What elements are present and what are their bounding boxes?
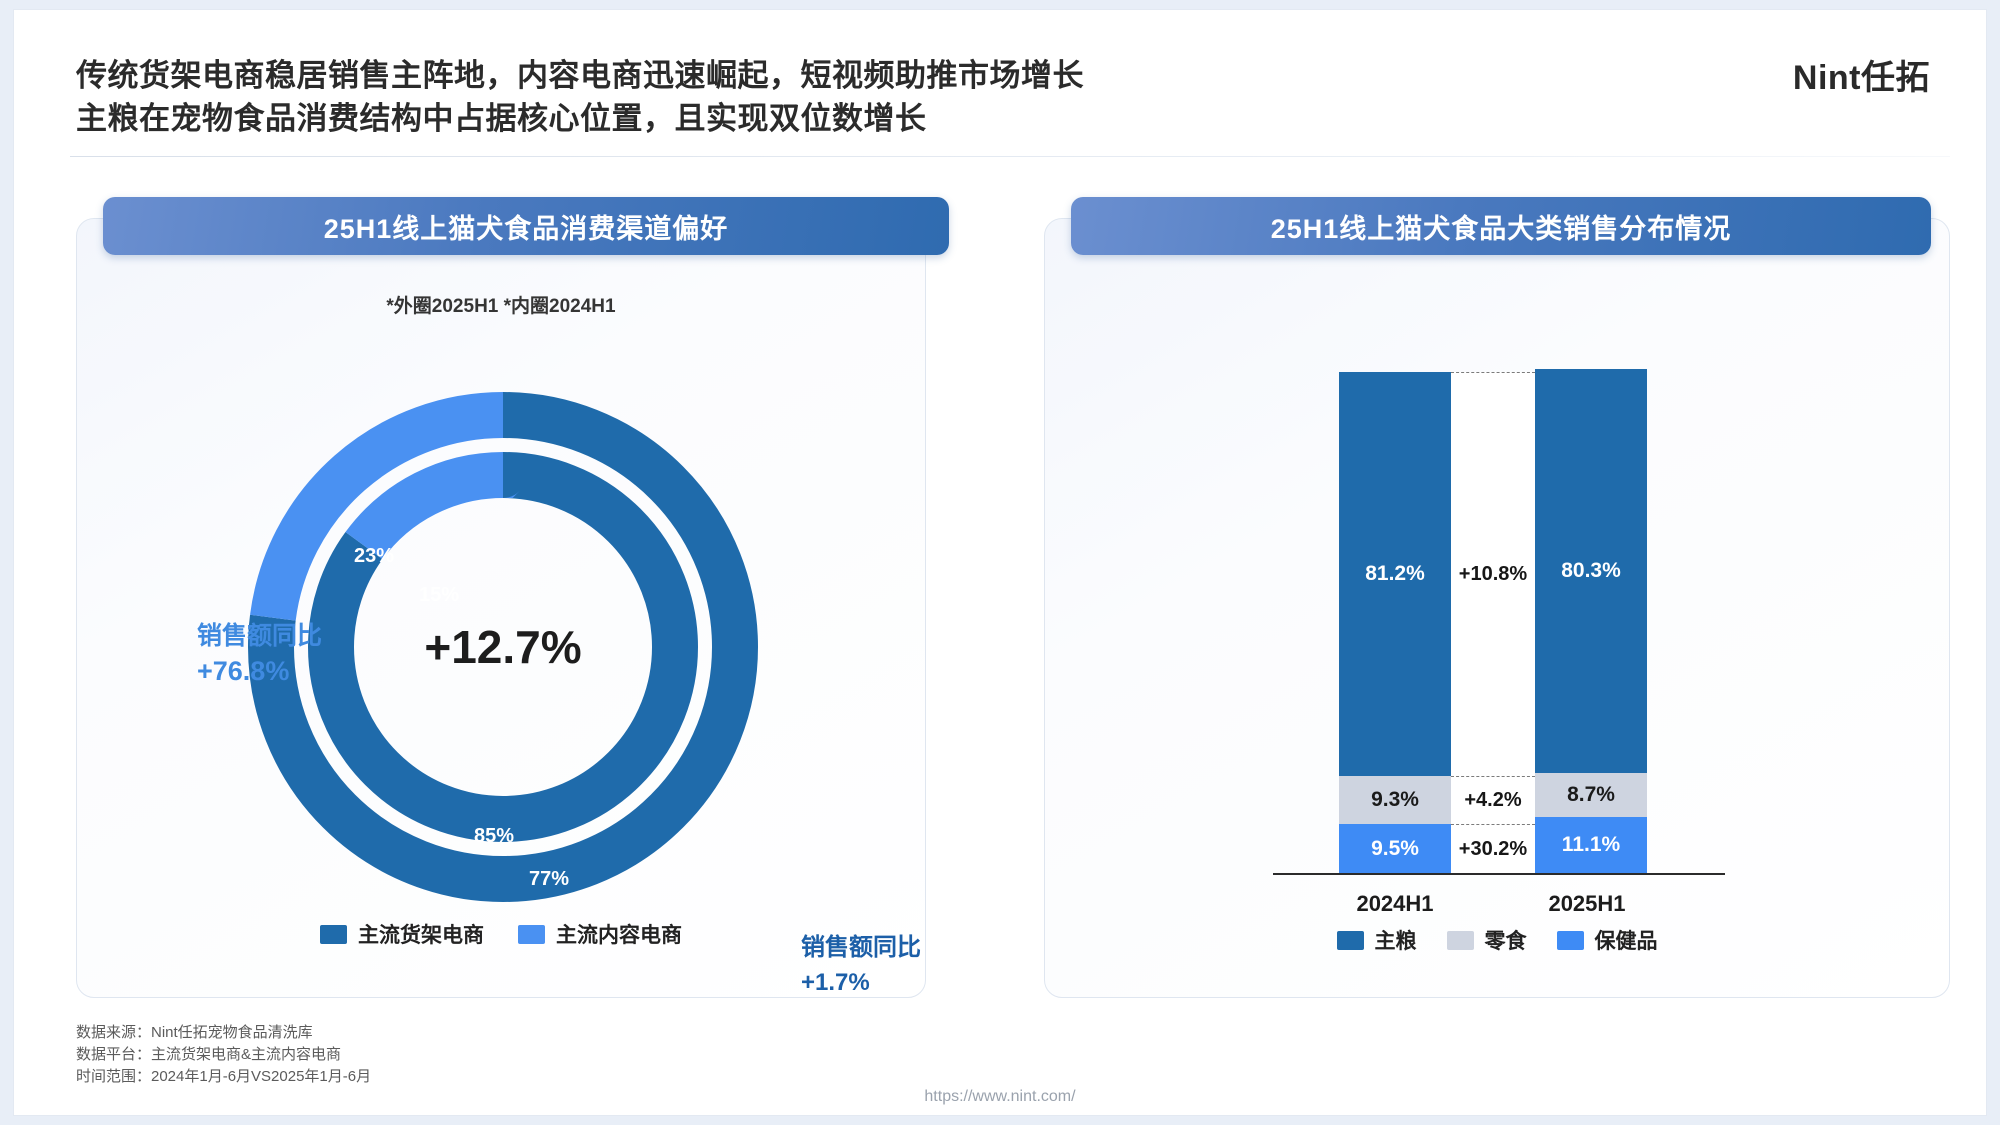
- bar-segment-health-2024: 9.5%: [1339, 824, 1451, 873]
- bar-segment-snack-2024: 9.3%: [1339, 776, 1451, 824]
- legend-item-staple: 主粮: [1337, 925, 1417, 955]
- legend-label-snack: 零食: [1485, 925, 1527, 955]
- bar-label-health-2025: 11.1%: [1562, 833, 1620, 857]
- card-title-banner-right: 25H1线上猫犬食品大类销售分布情况: [1071, 197, 1931, 255]
- card-title-right: 25H1线上猫犬食品大类销售分布情况: [1271, 207, 1732, 246]
- brand-logo: Nint任拓: [1793, 50, 1930, 99]
- legend-label-shelf-ecommerce: 主流货架电商: [358, 919, 484, 949]
- x-axis-line: [1273, 873, 1725, 875]
- legend-item-shelf-ecommerce: 主流货架电商: [320, 919, 484, 949]
- page-title-line2: 主粮在宠物食品消费结构中占据核心位置，且实现双位数增长: [76, 97, 1616, 140]
- footer-platform: 数据平台：主流货架电商&主流内容电商: [76, 1044, 371, 1066]
- bar-label-staple-2024: 81.2%: [1365, 562, 1425, 586]
- footer-notes: 数据来源：Nint任拓宠物食品清洗库 数据平台：主流货架电商&主流内容电商 时间…: [76, 1022, 371, 1088]
- label-outer-content-ecommerce: 23%: [354, 545, 394, 568]
- growth-cell-health: +30.2%: [1451, 824, 1535, 873]
- bar-segment-staple-2024: 81.2%: [1339, 372, 1451, 776]
- growth-label-health: +30.2%: [1459, 838, 1527, 861]
- legend-label-content-ecommerce: 主流内容电商: [556, 919, 682, 949]
- chart-card-category-distribution: 25H1线上猫犬食品大类销售分布情况 81.2% 9.3% 9.5%: [1044, 218, 1950, 998]
- chart-card-channel-preference: 25H1线上猫犬食品消费渠道偏好 *外圈2025H1 *内圈2024H1: [76, 218, 926, 998]
- footer-period: 时间范围：2024年1月-6月VS2025年1月-6月: [76, 1066, 371, 1088]
- legend-swatch-health: [1557, 931, 1584, 950]
- growth-label-staple: +10.8%: [1459, 563, 1527, 586]
- legend-swatch-content-ecommerce: [518, 925, 545, 944]
- card-title-left: 25H1线上猫犬食品消费渠道偏好: [324, 207, 729, 246]
- legend-swatch-snack: [1447, 931, 1474, 950]
- footer-url[interactable]: https://www.nint.com/: [0, 1088, 2000, 1106]
- bar-label-health-2024: 9.5%: [1371, 837, 1419, 861]
- bar-label-snack-2025: 8.7%: [1567, 783, 1615, 807]
- bar-segment-snack-2025: 8.7%: [1535, 773, 1647, 817]
- legend-label-staple: 主粮: [1375, 925, 1417, 955]
- label-inner-shelf-ecommerce: 85%: [474, 825, 514, 848]
- stacked-bar-chart: 81.2% 9.3% 9.5% +10.8% +4.2%: [1045, 315, 1949, 935]
- page-title: 传统货架电商稳居销售主阵地，内容电商迅速崛起，短视频助推市场增长 主粮在宠物食品…: [76, 54, 1616, 140]
- growth-cell-snack: +4.2%: [1451, 776, 1535, 824]
- legend-left: 主流货架电商 主流内容电商: [77, 919, 925, 949]
- bar-label-snack-2024: 9.3%: [1371, 788, 1419, 812]
- x-tick-2025h1: 2025H1: [1507, 891, 1667, 917]
- bar-segment-staple-2025: 80.3%: [1535, 369, 1647, 773]
- annotation-light-value: +76.8%: [197, 653, 322, 689]
- legend-right: 主粮 零食 保健品: [1045, 925, 1949, 955]
- header-divider: [70, 156, 1950, 157]
- legend-item-snack: 零食: [1447, 925, 1527, 955]
- x-tick-2024h1: 2024H1: [1315, 891, 1475, 917]
- bar-segment-health-2025: 11.1%: [1535, 817, 1647, 873]
- ring-note: *外圈2025H1 *内圈2024H1: [77, 291, 925, 318]
- legend-swatch-shelf-ecommerce: [320, 925, 347, 944]
- page-title-line1: 传统货架电商稳居销售主阵地，内容电商迅速崛起，短视频助推市场增长: [76, 54, 1616, 97]
- legend-item-health: 保健品: [1557, 925, 1658, 955]
- legend-swatch-staple: [1337, 931, 1364, 950]
- growth-label-snack: +4.2%: [1464, 789, 1521, 812]
- bar-column-2025h1: 80.3% 8.7% 11.1%: [1535, 369, 1647, 873]
- label-inner-content-ecommerce: 15%: [419, 584, 459, 607]
- growth-cell-staple: +10.8%: [1451, 372, 1535, 776]
- legend-item-content-ecommerce: 主流内容电商: [518, 919, 682, 949]
- bar-column-2024h1: 81.2% 9.3% 9.5%: [1339, 372, 1451, 873]
- annotation-light-label: 销售额同比: [197, 619, 322, 653]
- bar-label-staple-2025: 80.3%: [1561, 559, 1621, 583]
- annotation-content-ecommerce-growth: 销售额同比 +76.8%: [197, 619, 322, 689]
- footer-source: 数据来源：Nint任拓宠物食品清洗库: [76, 1022, 371, 1044]
- slide-root: 传统货架电商稳居销售主阵地，内容电商迅速崛起，短视频助推市场增长 主粮在宠物食品…: [0, 0, 2000, 1125]
- legend-label-health: 保健品: [1595, 925, 1658, 955]
- label-outer-shelf-ecommerce: 77%: [529, 868, 569, 891]
- growth-column: +10.8% +4.2% +30.2%: [1451, 372, 1535, 873]
- annotation-dark-value: +1.7%: [801, 965, 921, 1001]
- page-canvas: 传统货架电商稳居销售主阵地，内容电商迅速崛起，短视频助推市场增长 主粮在宠物食品…: [14, 10, 1986, 1115]
- donut-center-value: +12.7%: [424, 620, 581, 674]
- card-title-banner-left: 25H1线上猫犬食品消费渠道偏好: [103, 197, 949, 255]
